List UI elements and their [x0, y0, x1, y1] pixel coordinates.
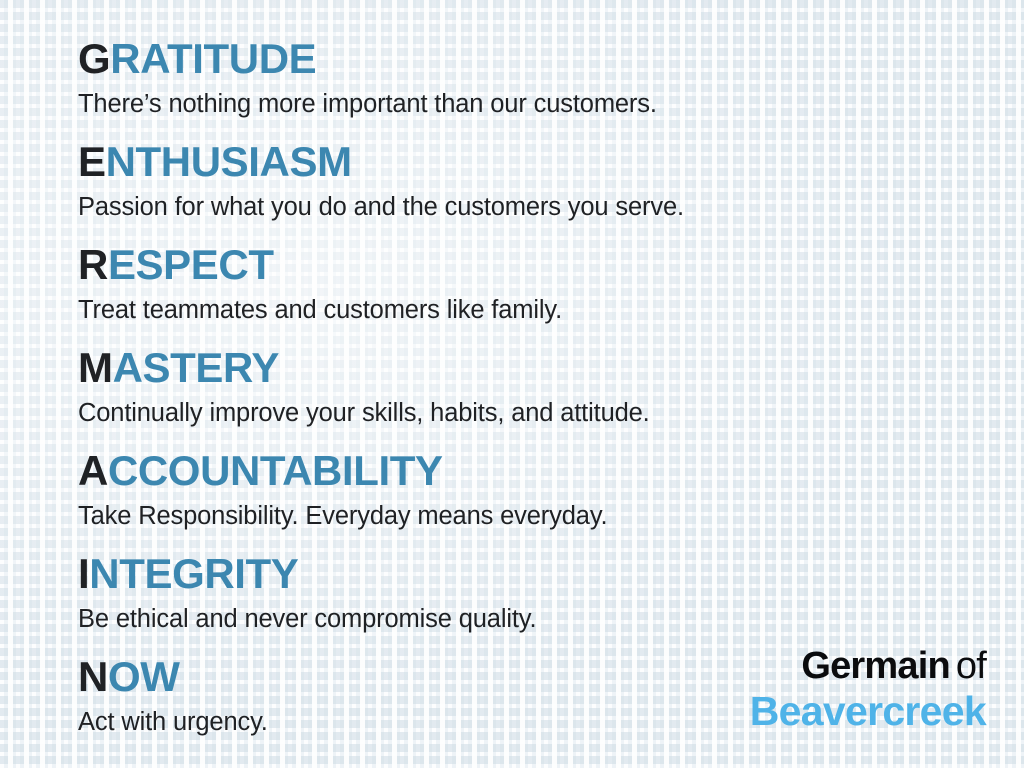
value-initial: R — [78, 241, 108, 288]
value-initial: I — [78, 550, 89, 597]
value-description-gratitude: There’s nothing more important than our … — [78, 87, 1024, 121]
logo-line-primary: Germainof — [750, 645, 986, 687]
value-block-integrity: INTEGRITY Be ethical and never compromis… — [78, 549, 1024, 636]
value-title-gratitude: GRATITUDE — [78, 34, 1024, 84]
value-block-gratitude: GRATITUDE There’s nothing more important… — [78, 34, 1024, 121]
value-description-mastery: Continually improve your skills, habits,… — [78, 396, 1024, 430]
value-initial: A — [78, 447, 108, 494]
logo-brand-name: Germain — [801, 645, 950, 687]
value-title-rest: RATITUDE — [110, 35, 316, 82]
value-description-integrity: Be ethical and never compromise quality. — [78, 602, 1024, 636]
value-block-accountability: ACCOUNTABILITY Take Responsibility. Ever… — [78, 446, 1024, 533]
value-initial: M — [78, 344, 113, 391]
value-title-accountability: ACCOUNTABILITY — [78, 446, 1024, 496]
value-initial: G — [78, 35, 110, 82]
value-title-mastery: MASTERY — [78, 343, 1024, 393]
value-initial: N — [78, 653, 108, 700]
value-description-accountability: Take Responsibility. Everyday means ever… — [78, 499, 1024, 533]
value-title-enthusiasm: ENTHUSIASM — [78, 137, 1024, 187]
logo-connector: of — [956, 645, 986, 687]
value-title-integrity: INTEGRITY — [78, 549, 1024, 599]
value-title-rest: CCOUNTABILITY — [108, 447, 443, 494]
value-initial: E — [78, 138, 106, 185]
value-title-respect: RESPECT — [78, 240, 1024, 290]
value-block-enthusiasm: ENTHUSIASM Passion for what you do and t… — [78, 137, 1024, 224]
value-title-rest: ASTERY — [113, 344, 279, 391]
value-description-respect: Treat teammates and customers like famil… — [78, 293, 1024, 327]
value-title-rest: ESPECT — [108, 241, 274, 288]
values-list: GRATITUDE There’s nothing more important… — [0, 0, 1024, 739]
dealership-logo: Germainof Beavercreek — [750, 645, 986, 734]
value-block-respect: RESPECT Treat teammates and customers li… — [78, 240, 1024, 327]
value-title-rest: NTEGRITY — [89, 550, 298, 597]
value-description-enthusiasm: Passion for what you do and the customer… — [78, 190, 1024, 224]
value-title-rest: NTHUSIASM — [106, 138, 352, 185]
value-title-rest: OW — [108, 653, 180, 700]
logo-location-name: Beavercreek — [750, 688, 986, 734]
value-block-mastery: MASTERY Continually improve your skills,… — [78, 343, 1024, 430]
values-poster: GRATITUDE There’s nothing more important… — [0, 0, 1024, 768]
